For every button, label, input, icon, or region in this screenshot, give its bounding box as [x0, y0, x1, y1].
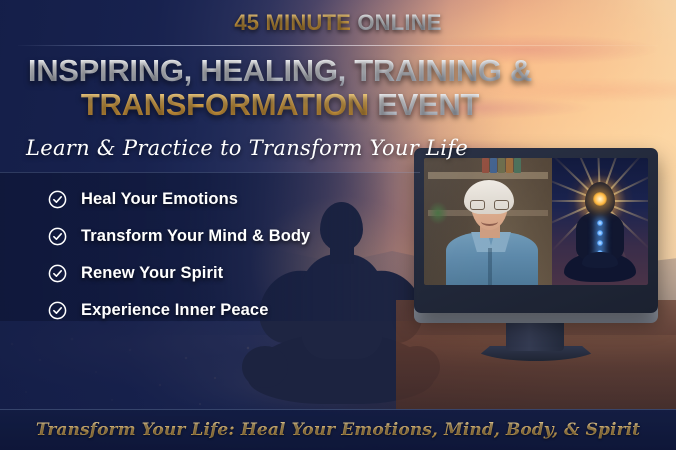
book-3: [498, 158, 505, 173]
headline-transformation: TRANSFORMATION: [81, 87, 369, 122]
chakra-light-3: [597, 240, 603, 246]
chakra-light-2: [597, 230, 603, 236]
presenter-glasses: [470, 200, 509, 210]
kicker-rest: ONLINE: [357, 10, 441, 35]
desktop-monitor: [414, 148, 658, 338]
kicker-highlight: 45 MINUTE: [234, 10, 351, 35]
promo-banner: 45 MINUTE ONLINE INSPIRING, HEALING, TRA…: [0, 0, 676, 450]
footer-tagline: Transform Your Life: Heal Your Emotions,…: [36, 420, 640, 440]
benefit-label: Renew Your Spirit: [81, 264, 223, 283]
check-circle-icon: [48, 227, 67, 246]
check-circle-icon: [48, 264, 67, 283]
headline-event: EVENT: [377, 87, 479, 122]
energy-figure-pane: [552, 158, 648, 285]
book-2: [490, 158, 497, 173]
book-5: [514, 158, 521, 173]
benefits-list: Heal Your Emotions Transform Your Mind &…: [48, 182, 388, 330]
check-circle-icon: [48, 190, 67, 209]
book-4: [506, 158, 513, 173]
glasses-lens-left: [470, 200, 485, 210]
kicker-line: 45 MINUTE ONLINE: [0, 12, 676, 34]
monitor-frame: [414, 148, 658, 313]
check-circle-icon: [48, 301, 67, 320]
book-1: [482, 158, 489, 173]
subtitle: Learn & Practice to Transform Your Life: [26, 136, 426, 160]
meditator-left-knee: [242, 346, 288, 388]
monitor-stand-neck: [506, 321, 564, 351]
benefit-label: Experience Inner Peace: [81, 301, 268, 320]
energy-figure-hands: [582, 252, 618, 268]
presenter-video-pane: [424, 158, 552, 285]
main-headline: INSPIRING, HEALING, TRAINING & TRANSFORM…: [26, 54, 534, 123]
third-eye-glow-orb: [593, 192, 607, 206]
header-divider: [18, 45, 658, 46]
potted-plant: [426, 198, 450, 228]
presenter-shirt-placket: [488, 248, 492, 285]
list-item: Experience Inner Peace: [48, 293, 388, 328]
bookshelf-top: [428, 172, 548, 179]
chakra-light-1: [597, 220, 603, 226]
presenter-smile: [481, 217, 498, 226]
benefit-label: Transform Your Mind & Body: [81, 227, 310, 246]
glasses-lens-right: [494, 200, 509, 210]
monitor-screen: [424, 158, 648, 285]
list-item: Renew Your Spirit: [48, 256, 388, 291]
benefit-label: Heal Your Emotions: [81, 190, 238, 209]
list-item: Transform Your Mind & Body: [48, 219, 388, 254]
footer-bar: Transform Your Life: Heal Your Emotions,…: [0, 409, 676, 450]
list-item: Heal Your Emotions: [48, 182, 388, 217]
headline-line-1: INSPIRING, HEALING, TRAINING &: [28, 53, 532, 88]
